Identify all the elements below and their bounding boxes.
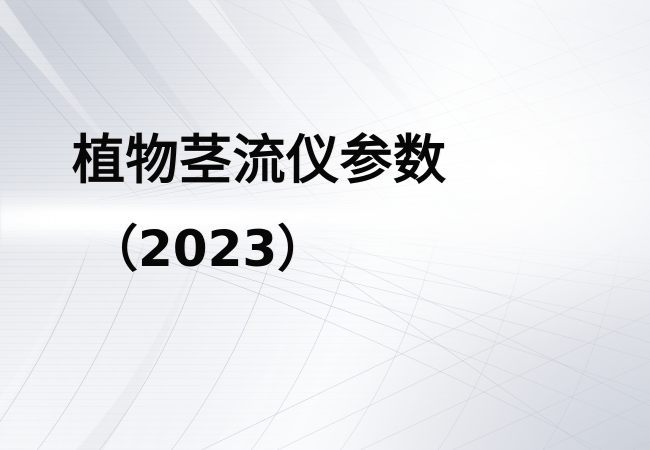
title-slide: 植物茎流仪参数 （2023） bbox=[0, 0, 650, 450]
slide-text-block: 植物茎流仪参数 （2023） bbox=[0, 0, 650, 450]
slide-subtitle-year: （2023） bbox=[88, 221, 327, 277]
slide-title: 植物茎流仪参数 bbox=[72, 131, 447, 190]
